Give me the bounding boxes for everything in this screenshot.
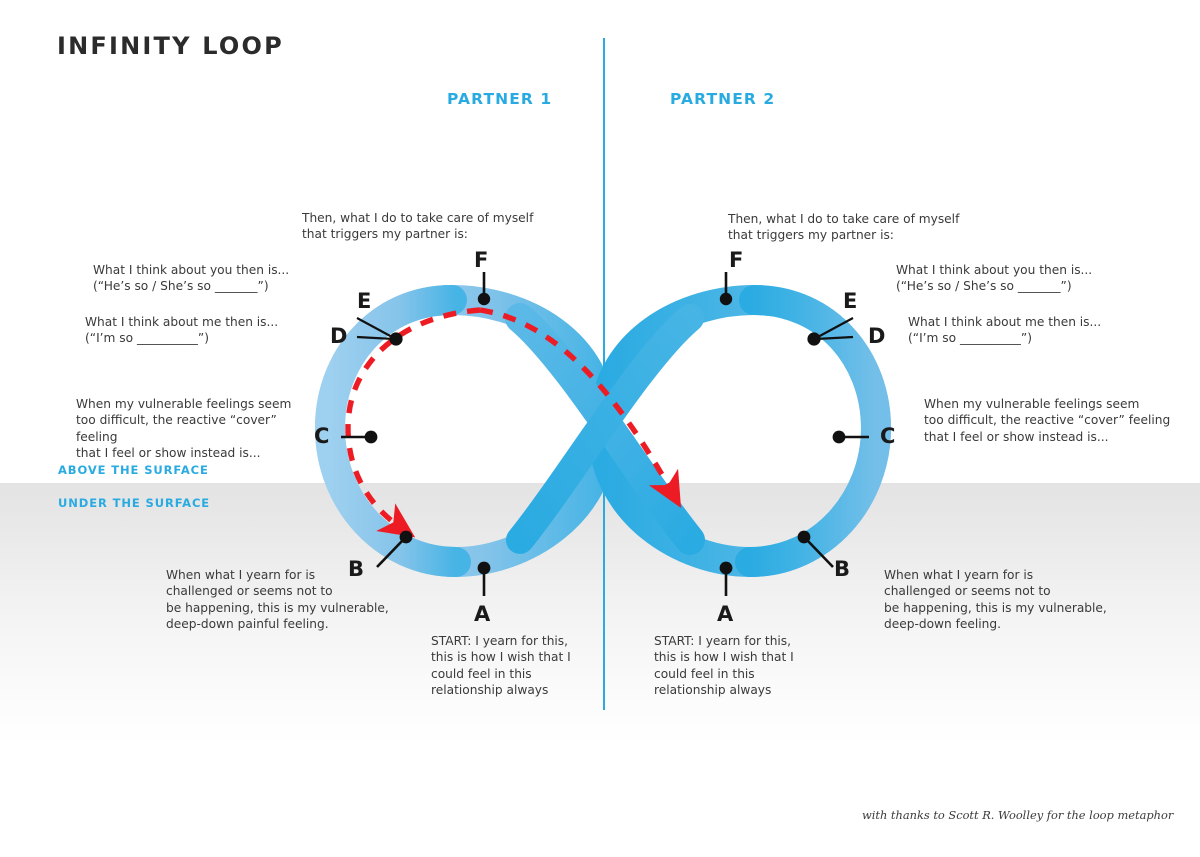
p2-b-text: When what I yearn for is challenged or s… (884, 567, 1116, 633)
leader-line-p2-d (816, 337, 853, 339)
marker-dot-p1-f (478, 293, 490, 305)
leader-line-p1-e (357, 318, 394, 338)
p2-letter-a: A (717, 602, 733, 626)
p2-letter-b: B (834, 557, 850, 581)
leader-line-p1-d (357, 337, 394, 339)
p1-letter-b: B (348, 557, 364, 581)
p2-d-text: What I think about me then is... (“I’m s… (908, 314, 1133, 347)
marker-dot-p1-de (389, 332, 402, 345)
under-the-surface-label: UNDER THE SURFACE (58, 496, 210, 510)
partner-1-header: PARTNER 1 (447, 90, 552, 108)
marker-dot-p2-de (807, 332, 820, 345)
marker-dot-p2-c (833, 431, 846, 444)
above-the-surface-label: ABOVE THE SURFACE (58, 463, 209, 477)
p2-letter-d: D (868, 324, 885, 348)
partner-divider (603, 38, 605, 710)
leader-line-p2-e (816, 318, 853, 338)
p1-letter-c: C (314, 424, 329, 448)
p2-letter-e: E (843, 289, 857, 313)
p1-letter-e: E (357, 289, 371, 313)
marker-dot-p2-f (720, 293, 732, 305)
p2-e-text: What I think about you then is... (“He’s… (896, 262, 1121, 295)
p1-c-text: When my vulnerable feelings seem too dif… (76, 396, 314, 462)
partner-2-header: PARTNER 2 (670, 90, 775, 108)
marker-dot-p1-c (365, 431, 378, 444)
p1-letter-a: A (474, 602, 490, 626)
page-title: INFINITY LOOP (57, 32, 284, 60)
p1-d-text: What I think about me then is... (“I’m s… (85, 314, 300, 347)
flow-arrow-right (480, 310, 672, 492)
credit-line: with thanks to Scott R. Woolley for the … (862, 808, 1173, 822)
infographic-canvas: INFINITY LOOP PARTNER 1 PARTNER 2 ABOVE … (0, 0, 1200, 857)
p1-letter-d: D (330, 324, 347, 348)
p1-e-text: What I think about you then is... (“He’s… (93, 262, 308, 295)
p2-letter-c: C (880, 424, 895, 448)
p1-f-text: Then, what I do to take care of myself t… (302, 210, 562, 243)
p1-a-text: START: I yearn for this, this is how I w… (431, 633, 591, 699)
p2-a-text: START: I yearn for this, this is how I w… (654, 633, 814, 699)
p2-c-text: When my vulnerable feelings seem too dif… (924, 396, 1172, 445)
p1-letter-f: F (474, 248, 488, 272)
p2-letter-f: F (729, 248, 743, 272)
p2-f-text: Then, what I do to take care of myself t… (728, 211, 988, 244)
